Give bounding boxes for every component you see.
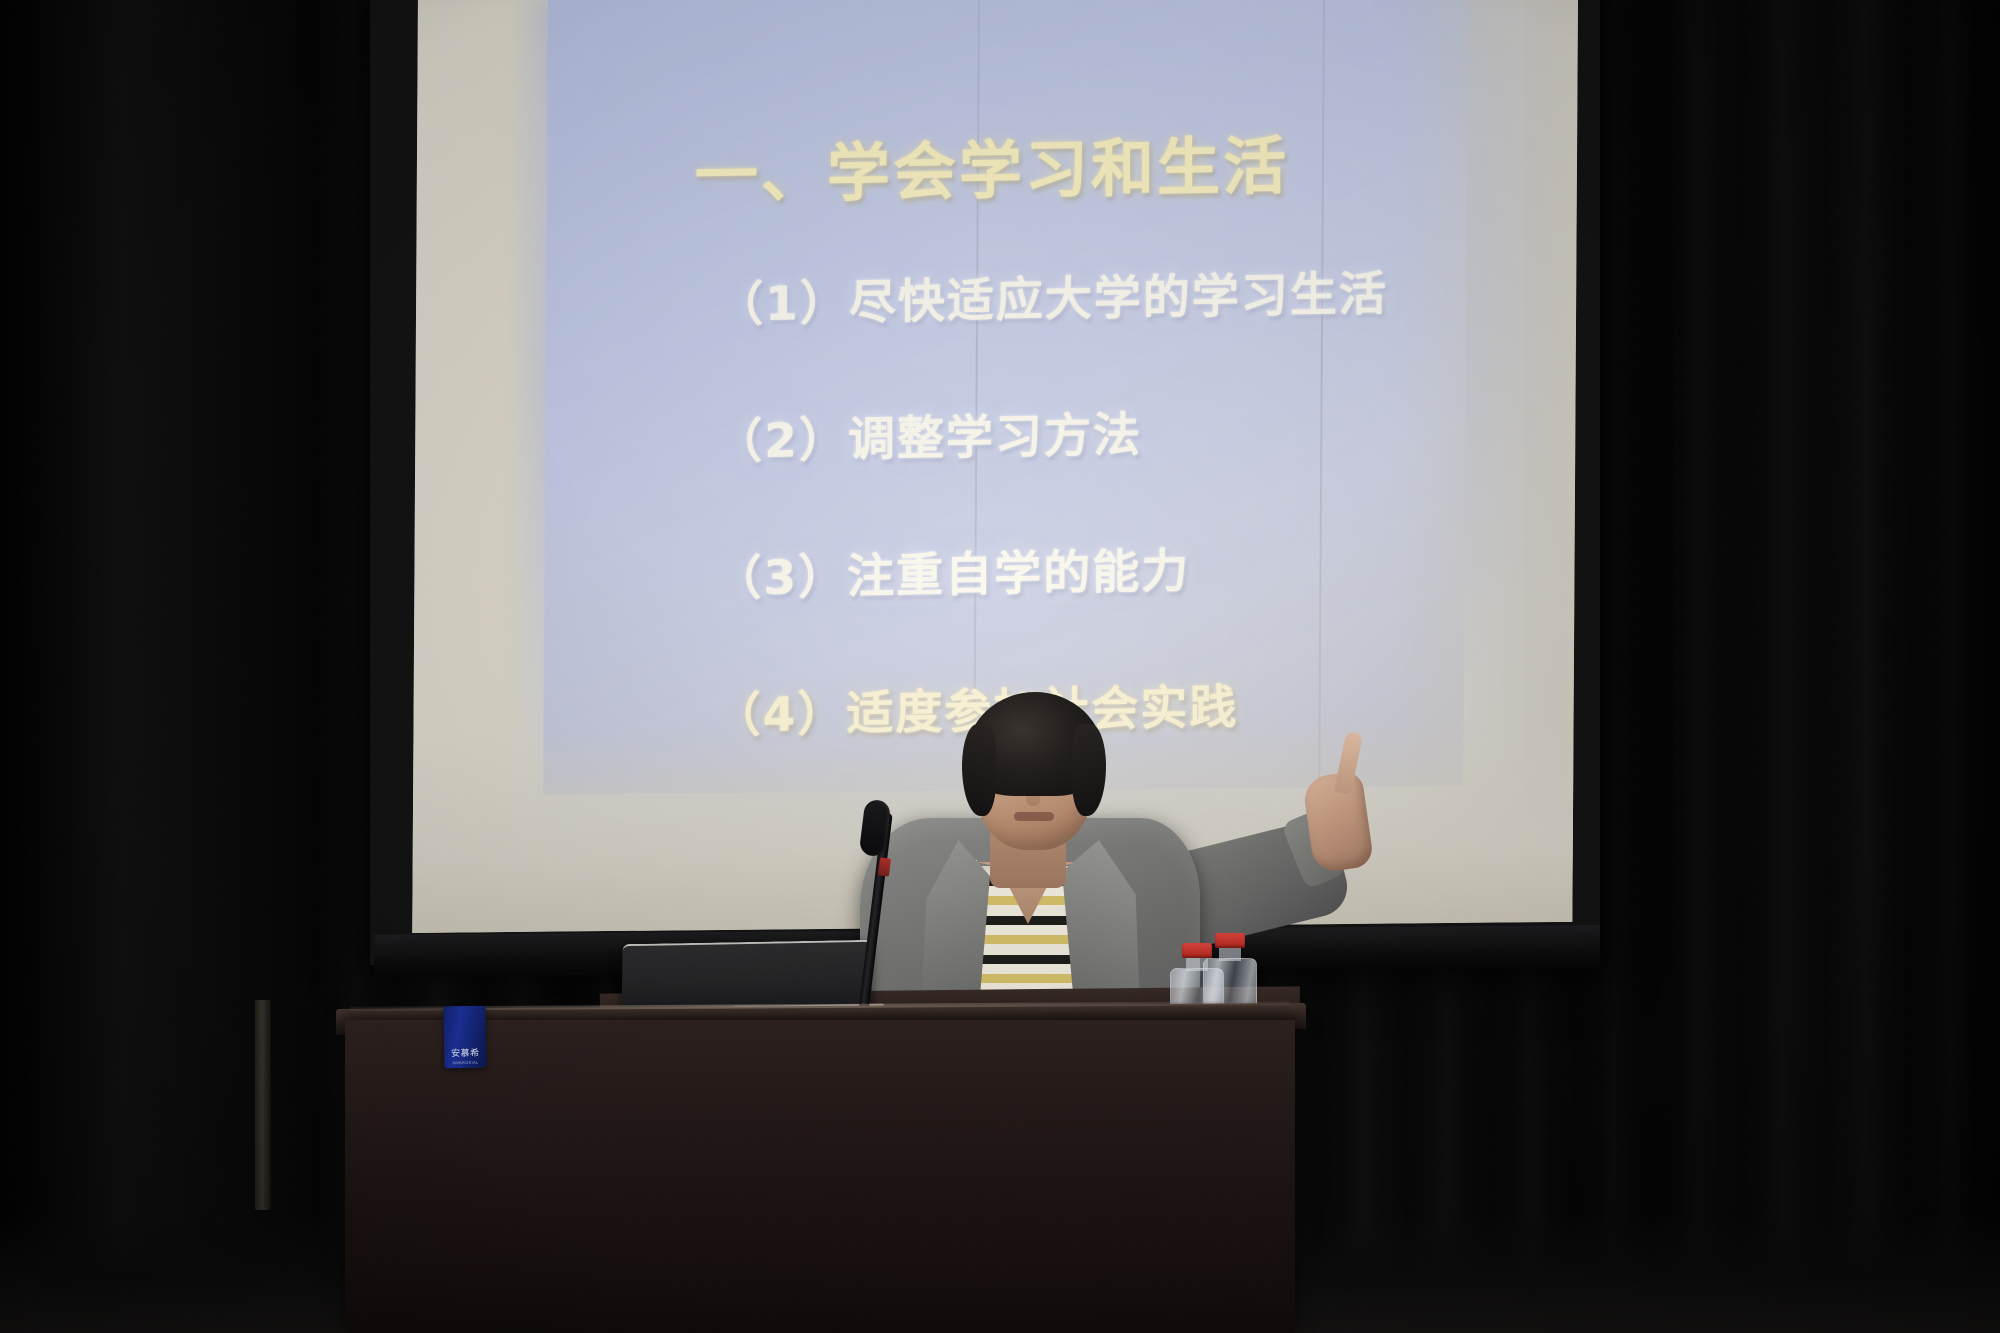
speaker-hair-left	[962, 724, 996, 816]
slide-title: 一、学会学习和生活	[695, 116, 1289, 217]
slide-bullet-item: （1）尽快适应大学的学习生活	[716, 253, 1496, 335]
speaker-mouth	[1014, 812, 1054, 821]
microphone-indicator	[878, 857, 891, 876]
speaker-hair-right	[1072, 724, 1106, 816]
slide-content: 一、学会学习和生活 （1）尽快适应大学的学习生活 （2）调整学习方法 （3）注重…	[563, 18, 1468, 787]
podium: U N I	[345, 1020, 1295, 1333]
lecture-hall-scene: 一、学会学习和生活 （1）尽快适应大学的学习生活 （2）调整学习方法 （3）注重…	[0, 0, 2000, 1333]
wall-panel-seam	[255, 1000, 271, 1210]
carton-brand-label: 安慕希	[448, 1047, 482, 1058]
bottle-cap	[1182, 943, 1212, 958]
beverage-carton: 安慕希 AMBROSIAL	[443, 1006, 486, 1069]
bottle-cap	[1215, 933, 1245, 948]
carton-sub-label: AMBROSIAL	[448, 1060, 482, 1066]
slide-bullet-item: （2）调整学习方法	[715, 390, 1495, 472]
slide-bullet-item: （3）注重自学的能力	[714, 527, 1494, 609]
